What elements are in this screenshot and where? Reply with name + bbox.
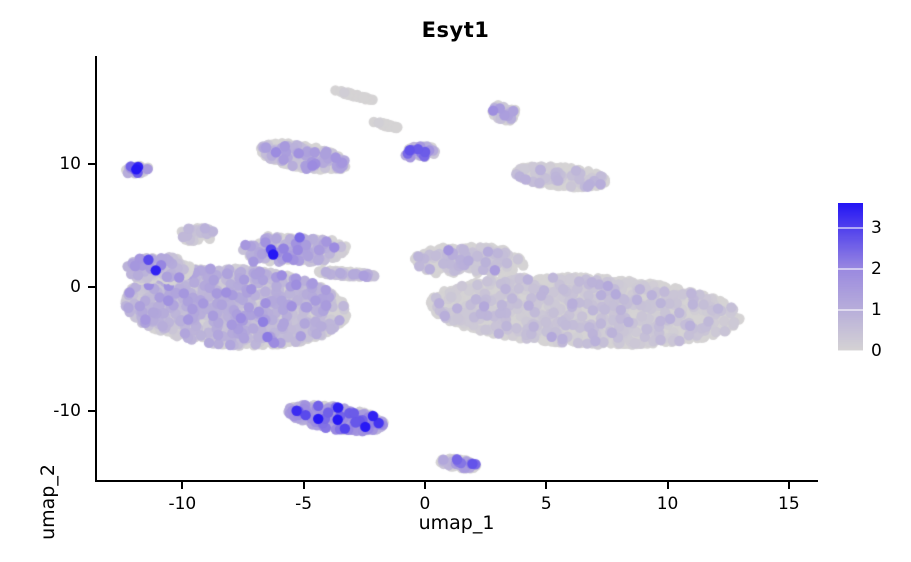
x-tick-mark	[181, 482, 183, 489]
x-tick-mark	[667, 482, 669, 489]
y-tick-label: -10	[53, 401, 81, 421]
colorbar-tick-label: 3	[871, 218, 882, 238]
colorbar-gradient	[838, 203, 863, 351]
axes-frame	[95, 56, 818, 482]
y-tick-mark	[88, 410, 95, 412]
x-tick-mark	[545, 482, 547, 489]
x-tick-label: 15	[778, 494, 800, 514]
y-axis-label: umap_2	[37, 464, 59, 540]
colorbar-tick-mark	[838, 268, 863, 270]
x-tick-label: 10	[657, 494, 679, 514]
y-tick-mark	[88, 286, 95, 288]
x-tick-mark	[424, 482, 426, 489]
colorbar-tick-mark	[838, 309, 863, 311]
plot-axes: -10-5051015 -10010	[95, 56, 818, 482]
y-tick-label: 10	[59, 154, 81, 174]
colorbar-tick-label: 0	[871, 341, 882, 361]
page-title: Esyt1	[0, 18, 911, 42]
x-tick-label: -10	[168, 494, 196, 514]
x-tick-label: -5	[295, 494, 312, 514]
y-tick-mark	[88, 163, 95, 165]
colorbar: 0123	[838, 203, 863, 351]
x-tick-label: 0	[420, 494, 431, 514]
y-tick-label: 0	[70, 277, 81, 297]
x-tick-label: 5	[541, 494, 552, 514]
colorbar-tick-label: 1	[871, 300, 882, 320]
colorbar-tick-mark	[838, 227, 863, 229]
colorbar-tick-label: 2	[871, 259, 882, 279]
x-tick-mark	[788, 482, 790, 489]
x-axis-label: umap_1	[95, 512, 818, 534]
x-tick-mark	[303, 482, 305, 489]
colorbar-tick-mark	[838, 350, 863, 352]
umap-feature-plot: Esyt1 -10-5051015 -10010 umap_1 umap_2 0…	[0, 0, 911, 562]
